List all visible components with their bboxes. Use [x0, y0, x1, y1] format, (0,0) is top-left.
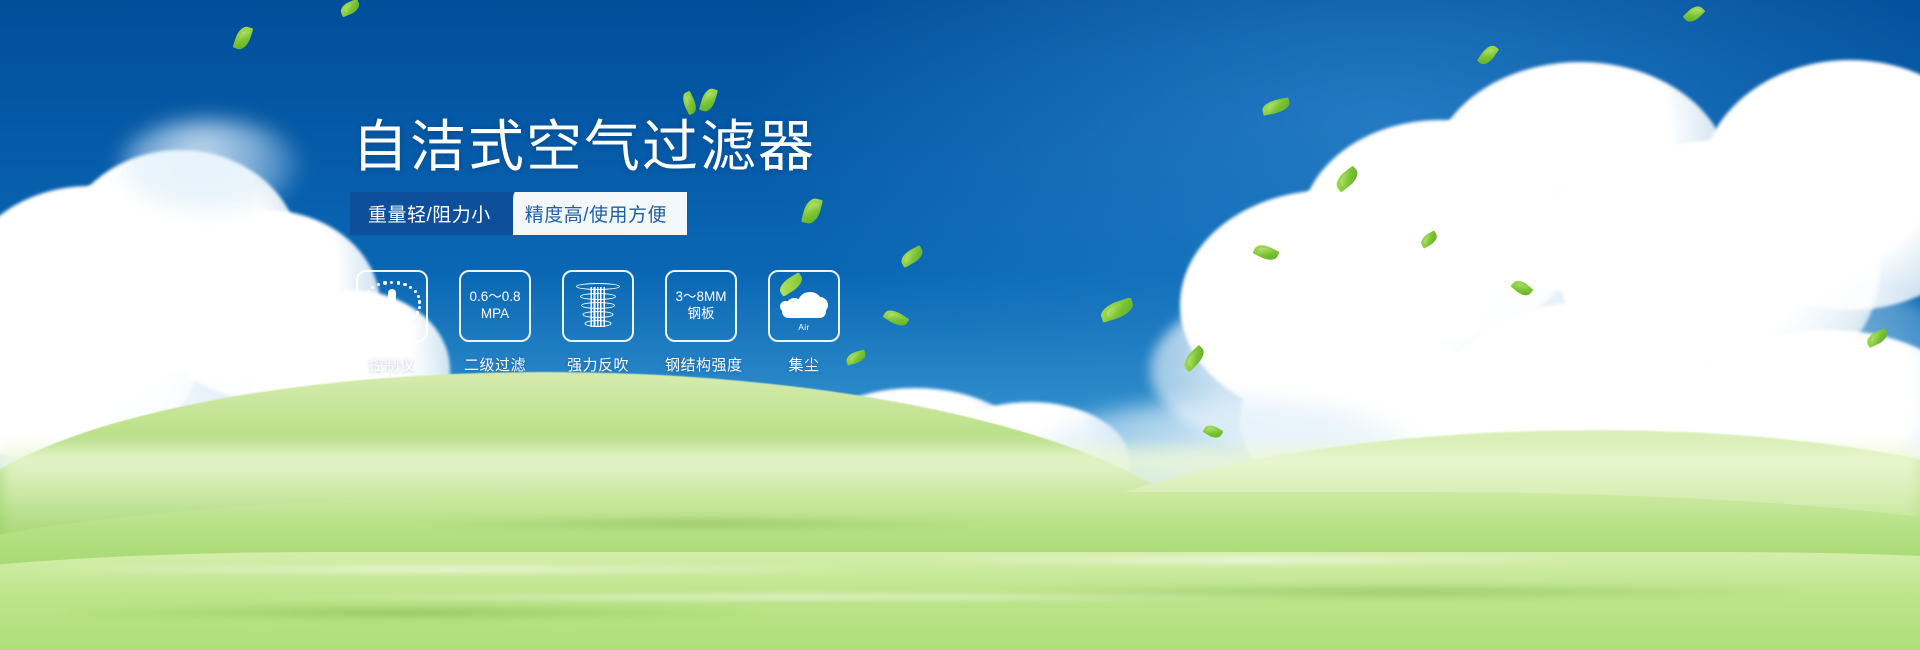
pressure-unit-text: MPA [481, 306, 509, 323]
tag-primary-label: 重量轻/阻力小 [368, 200, 491, 227]
air-label: Air [776, 322, 832, 332]
feature-item-pressure[interactable]: 0.6～0.8 MPA 二级过滤 [459, 270, 531, 375]
tag-secondary[interactable]: 精度高/使用方便 [495, 192, 687, 235]
cloud-puff-3 [812, 297, 828, 313]
feature-item-controller[interactable]: NO OFF 控制仪 [356, 270, 428, 375]
leaf-accent-icon [777, 272, 806, 297]
feature-box-steel: 3～8MM 钢板 [665, 270, 737, 342]
feature-label-steel: 钢结构强度 [665, 354, 737, 375]
feature-item-backblow[interactable]: 强力反吹 [562, 270, 634, 375]
feature-item-steel[interactable]: 3～8MM 钢板 钢结构强度 [665, 270, 737, 375]
pressure-text-icon: 0.6～0.8 [469, 289, 520, 306]
tag-primary[interactable]: 重量轻/阻力小 [350, 192, 513, 235]
feature-list: NO OFF 控制仪 0.6～0.8 MPA 二级过滤 [356, 270, 840, 375]
air-cloud-icon: Air [776, 281, 832, 331]
feature-box-dust: Air [768, 270, 840, 342]
gauge-on-label: NO [364, 303, 374, 310]
feature-label-dust: 集尘 [768, 354, 840, 375]
feature-label-controller: 控制仪 [356, 354, 428, 375]
steel-plate-sub-text: 钢板 [688, 306, 715, 323]
gauge-off-label: OFF [407, 324, 421, 331]
steel-plate-text-icon: 3～8MM [675, 289, 726, 306]
filter-cartridge-icon [573, 282, 623, 330]
hero-banner: 自洁式空气过滤器 重量轻/阻力小 精度高/使用方便 [0, 0, 1920, 650]
feature-box-pressure: 0.6～0.8 MPA [459, 270, 531, 342]
gauge-needle [388, 289, 396, 323]
feature-label-pressure: 二级过滤 [459, 354, 531, 375]
tag-group: 重量轻/阻力小 精度高/使用方便 [350, 192, 687, 235]
feature-item-dust[interactable]: Air 集尘 [768, 270, 840, 375]
feature-box-backblow [562, 270, 634, 342]
page-title: 自洁式空气过滤器 [352, 118, 816, 177]
tag-secondary-label: 精度高/使用方便 [525, 200, 667, 227]
feature-box-controller: NO OFF [356, 270, 428, 342]
gauge-dial-icon: NO OFF [365, 280, 419, 332]
sky-background [0, 0, 1920, 650]
feature-label-backblow: 强力反吹 [562, 354, 634, 375]
cloud-puff-4 [780, 301, 791, 312]
